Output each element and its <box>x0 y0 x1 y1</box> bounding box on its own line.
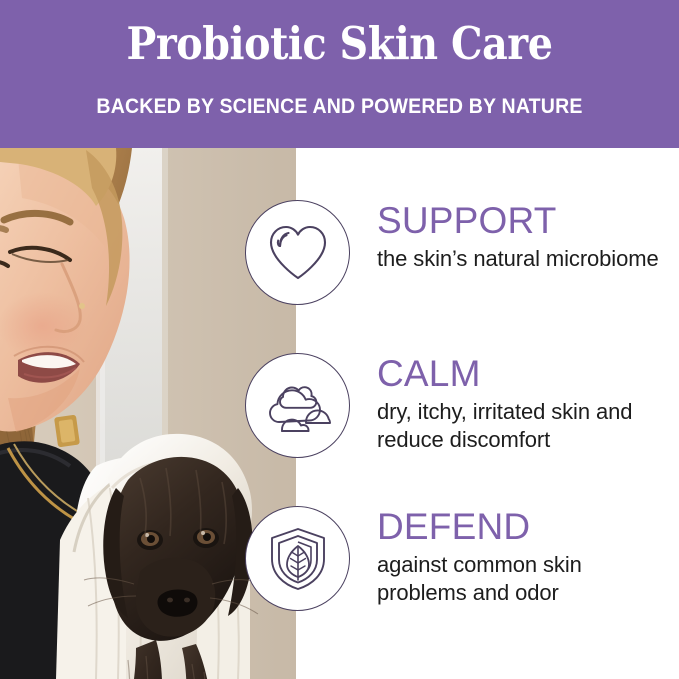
feature-heading-defend: DEFEND <box>377 506 673 548</box>
clouds-icon-badge <box>245 353 350 458</box>
feature-heading-support: SUPPORT <box>377 200 673 242</box>
feature-item-calm: CALM dry, itchy, irritated skin and redu… <box>0 353 679 503</box>
feature-text-support: SUPPORT the skin’s natural microbiome <box>377 200 673 273</box>
page-title: Probiotic Skin Care <box>41 18 639 70</box>
clouds-icon <box>265 378 331 434</box>
header-subtitle: BACKED BY SCIENCE AND POWERED BY NATURE <box>24 94 655 120</box>
feature-body-calm: dry, itchy, irritated skin and reduce di… <box>377 398 673 454</box>
feature-text-defend: DEFEND against common skin problems and … <box>377 506 673 607</box>
shield-leaf-icon-badge <box>245 506 350 611</box>
feature-text-calm: CALM dry, itchy, irritated skin and redu… <box>377 353 673 454</box>
header-banner: Probiotic Skin Care BACKED BY SCIENCE AN… <box>0 0 679 148</box>
heart-icon-badge <box>245 200 350 305</box>
probiotic-skin-care-poster: Probiotic Skin Care BACKED BY SCIENCE AN… <box>0 0 679 679</box>
feature-body-support: the skin’s natural microbiome <box>377 245 673 273</box>
heart-icon <box>267 223 329 283</box>
feature-item-support: SUPPORT the skin’s natural microbiome <box>0 200 679 350</box>
feature-item-defend: DEFEND against common skin problems and … <box>0 506 679 656</box>
shield-leaf-icon <box>267 526 329 592</box>
feature-list: SUPPORT the skin’s natural microbiome <box>0 148 679 679</box>
feature-body-defend: against common skin problems and odor <box>377 551 673 607</box>
feature-heading-calm: CALM <box>377 353 673 395</box>
